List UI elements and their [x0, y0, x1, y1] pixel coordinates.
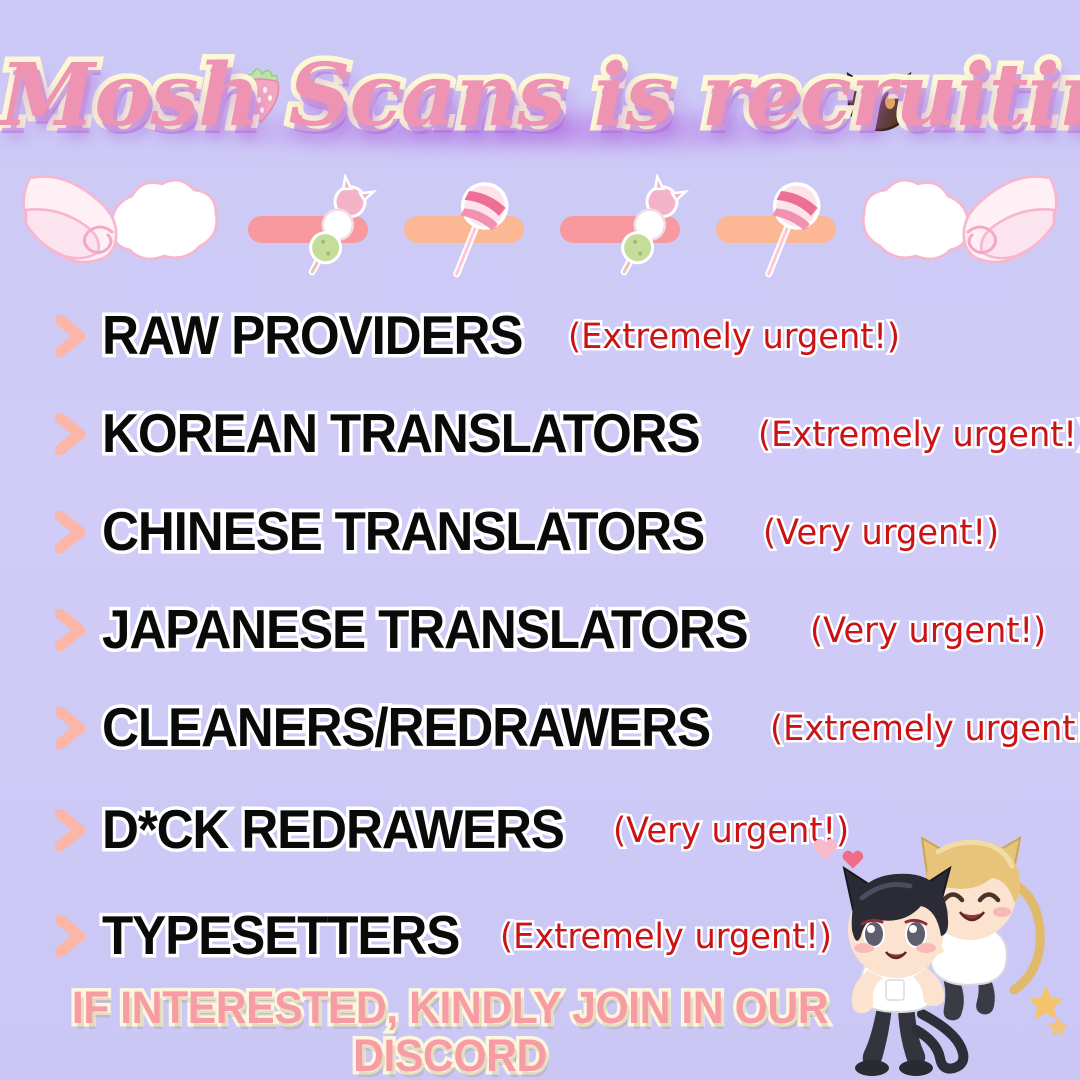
role-urgency: (Extremely urgent!) — [770, 710, 1080, 748]
chevron-right-icon — [55, 511, 85, 553]
footer-line-1: IF INTERESTED, KINDLY JOIN IN OUR DISCOR… — [23, 984, 878, 1080]
decorative-divider — [0, 162, 1080, 288]
lollipop-icon — [744, 174, 830, 286]
chevron-right-icon — [55, 707, 85, 749]
role-name: TYPESETTERS — [102, 906, 459, 964]
role-name: CHINESE TRANSLATORS — [102, 502, 704, 560]
lollipop-icon — [432, 174, 518, 286]
role-urgency: (Extremely urgent!) — [568, 318, 900, 356]
role-urgency: (Extremely urgent!) — [500, 918, 832, 956]
page-title: Mosh Scans is recruiting! — [0, 50, 1080, 142]
heart-icon — [813, 839, 863, 869]
winged-cloud-icon — [14, 162, 229, 288]
role-name: D*CK REDRAWERS — [102, 800, 564, 858]
list-item[interactable]: CHINESE TRANSLATORS (Very urgent!) — [0, 496, 1080, 566]
winged-cloud-icon — [851, 162, 1066, 288]
list-item[interactable]: KOREAN TRANSLATORS (Extremely urgent!) — [0, 398, 1080, 468]
star-icon — [1029, 986, 1068, 1036]
chevron-right-icon — [55, 609, 85, 651]
role-name: JAPANESE TRANSLATORS — [102, 600, 748, 658]
role-urgency: (Very urgent!) — [810, 612, 1046, 650]
list-item[interactable]: CLEANERS/REDRAWERS (Extremely urgent!) — [0, 692, 1080, 762]
role-name: KOREAN TRANSLATORS — [102, 404, 700, 462]
list-item[interactable]: JAPANESE TRANSLATORS (Very urgent!) — [0, 594, 1080, 664]
dango-skewer-icon — [292, 174, 378, 286]
chevron-right-icon — [55, 315, 85, 357]
chibi-characters-illustration — [804, 818, 1074, 1080]
title-section: Mosh Scans is recruiting! — [0, 28, 1080, 168]
role-urgency: (Extremely urgent!) — [758, 416, 1080, 454]
chevron-right-icon — [55, 915, 85, 957]
role-name: RAW PROVIDERS — [102, 306, 522, 364]
role-name: CLEANERS/REDRAWERS — [102, 698, 710, 756]
list-item[interactable]: RAW PROVIDERS (Extremely urgent!) — [0, 300, 1080, 370]
role-urgency: (Very urgent!) — [763, 514, 999, 552]
dango-skewer-icon — [604, 174, 690, 286]
chevron-right-icon — [55, 809, 85, 851]
footer-cta: IF INTERESTED, KINDLY JOIN IN OUR DISCOR… — [0, 984, 900, 1080]
chevron-right-icon — [55, 413, 85, 455]
recruitment-poster: Mosh Scans is recruiting! — [0, 0, 1080, 1080]
